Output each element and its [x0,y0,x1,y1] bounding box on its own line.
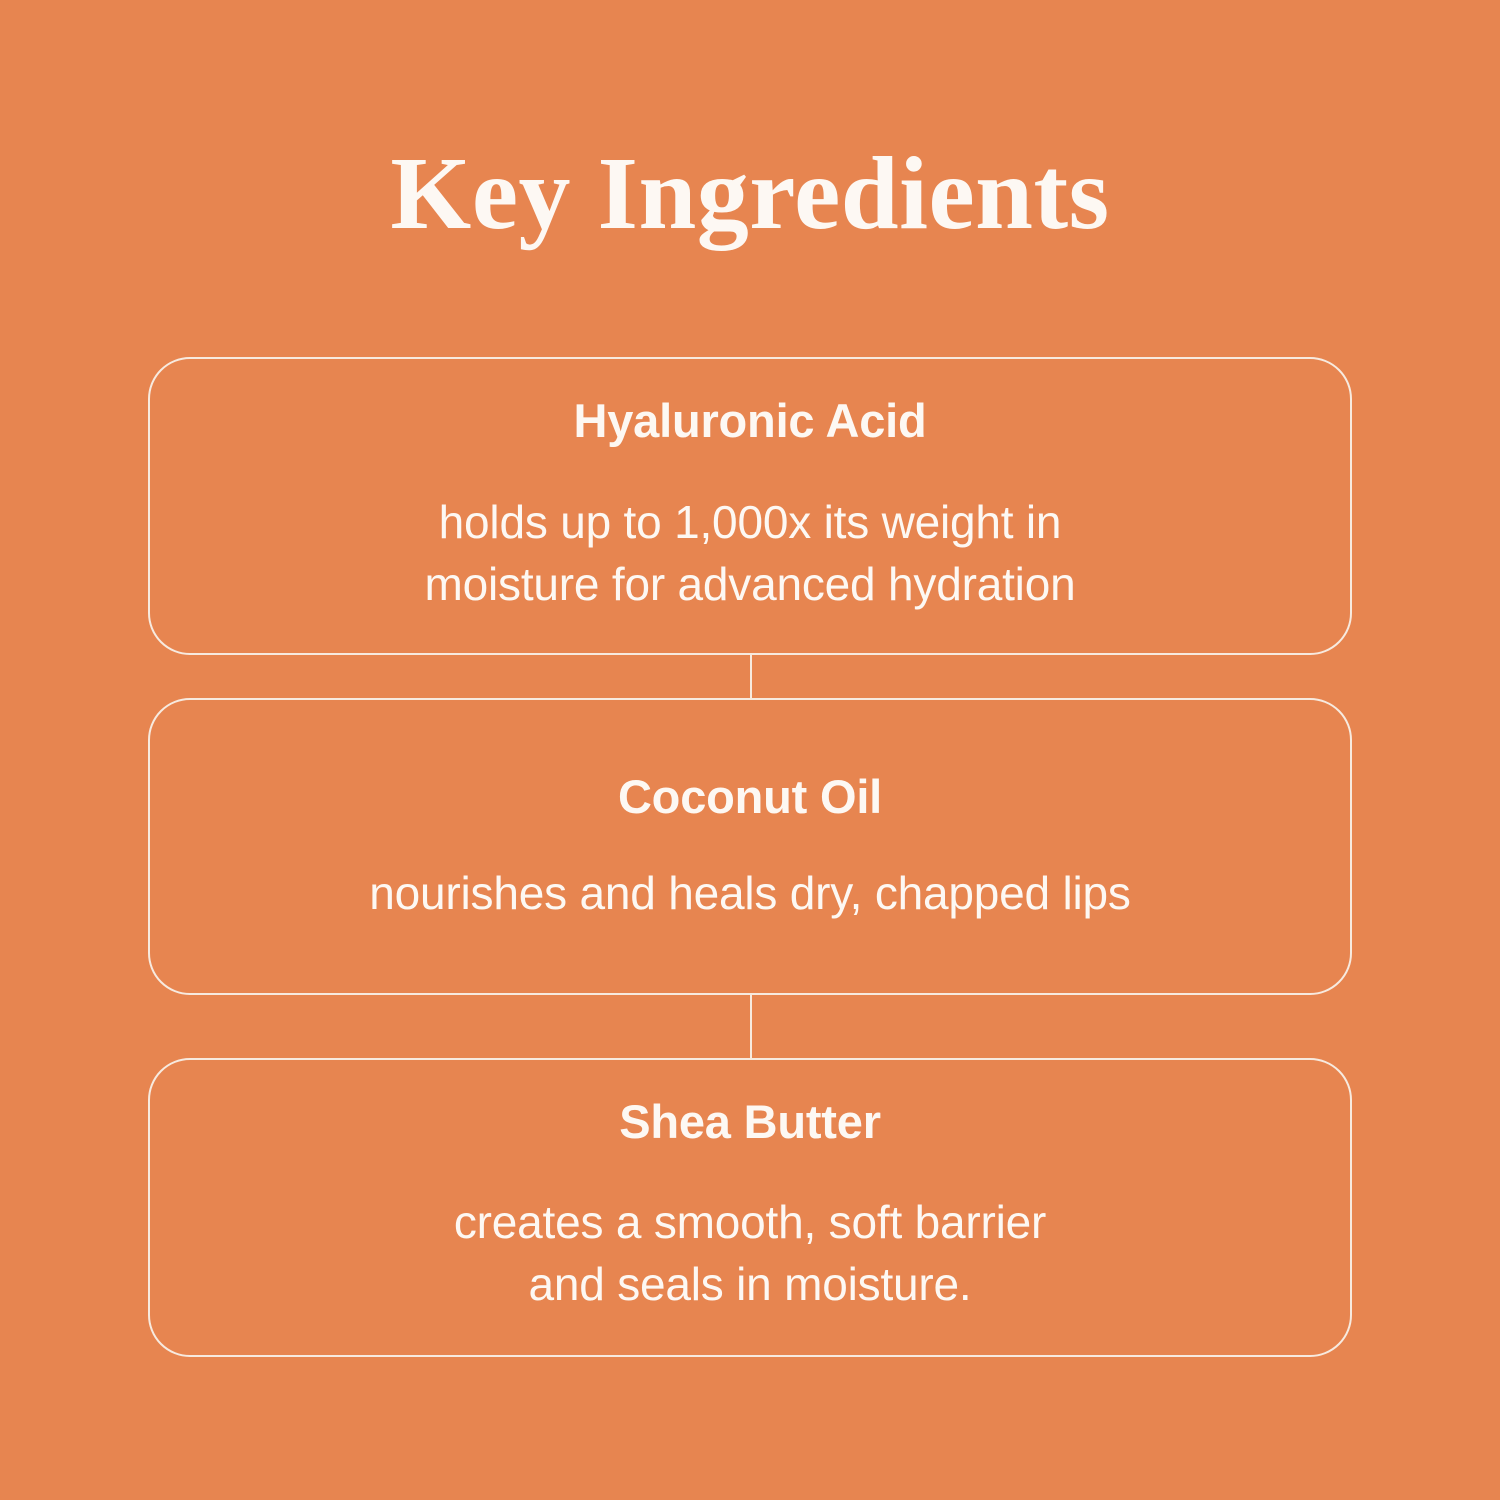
ingredient-card-shea-butter: Shea Butter creates a smooth, soft barri… [148,1058,1352,1357]
ingredients-flow: Hyaluronic Acid holds up to 1,000x its w… [148,357,1352,1357]
ingredient-name: Coconut Oil [618,769,882,825]
page-title: Key Ingredients [0,138,1500,250]
ingredient-card-hyaluronic-acid: Hyaluronic Acid holds up to 1,000x its w… [148,357,1352,655]
connector-line-1 [750,655,752,698]
ingredient-name: Shea Butter [619,1094,881,1150]
ingredient-name: Hyaluronic Acid [573,393,926,449]
ingredient-description: nourishes and heals dry, chapped lips [369,862,1130,924]
connector-line-2 [750,995,752,1058]
ingredient-description: holds up to 1,000x its weight in moistur… [425,491,1076,615]
ingredient-card-coconut-oil: Coconut Oil nourishes and heals dry, cha… [148,698,1352,995]
key-ingredients-poster: Key Ingredients Hyaluronic Acid holds up… [0,0,1500,1500]
ingredient-description: creates a smooth, soft barrier and seals… [454,1191,1046,1315]
